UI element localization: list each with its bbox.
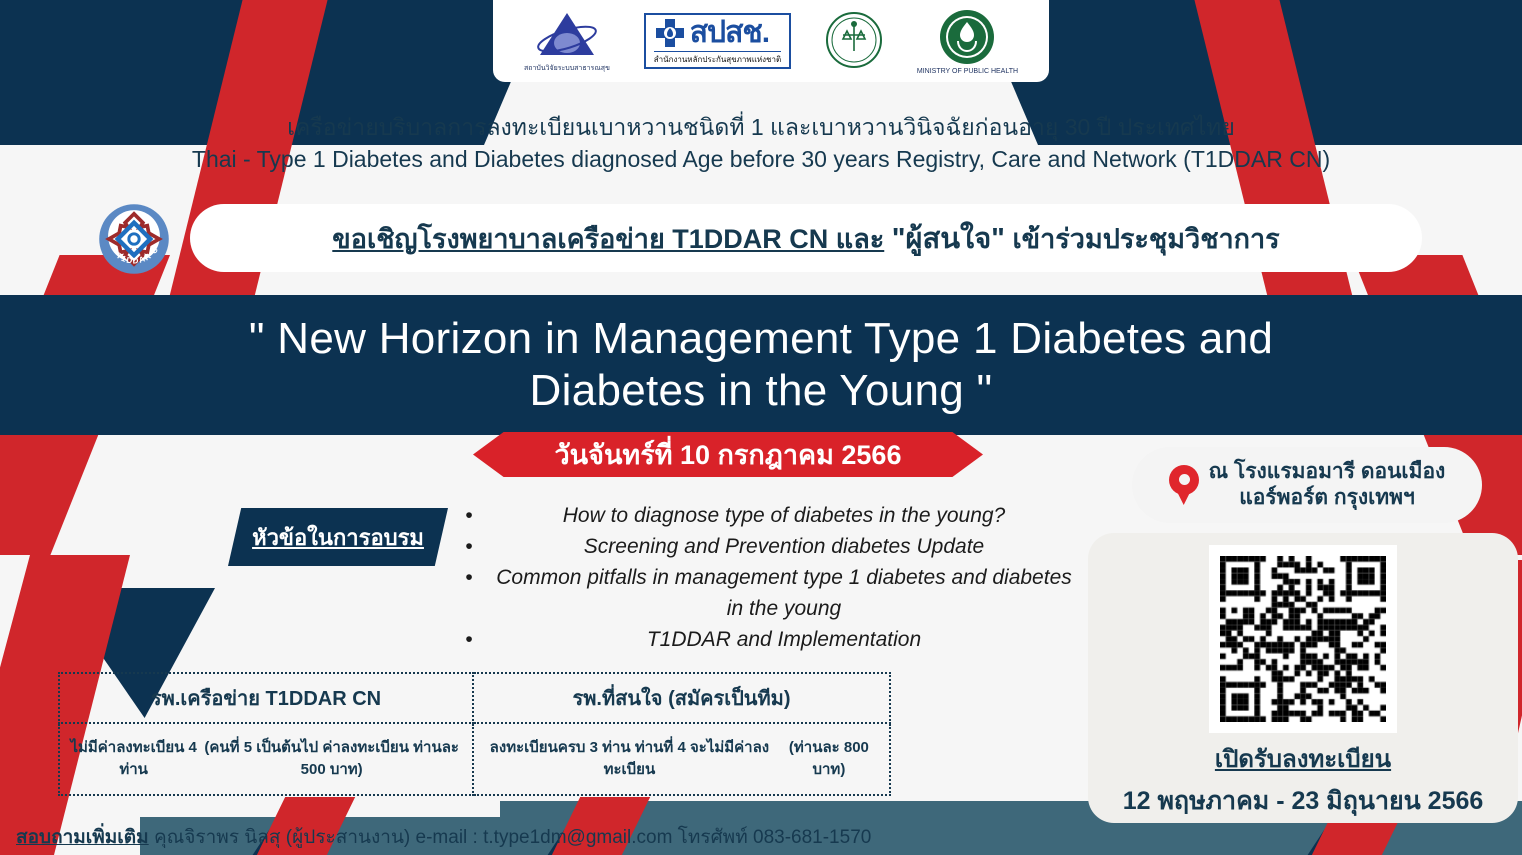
hsri-logo: สถาบันวิจัยระบบสาธารณสุข bbox=[524, 9, 610, 74]
subtitle-thai: เครือข่ายบริบาลการลงทะเบียนเบาหวานชนิดที… bbox=[0, 110, 1522, 146]
event-date-text: วันจันทร์ที่ 10 กรกฎาคม 2566 bbox=[555, 433, 902, 476]
main-title-line-2: Diabetes in the Young " bbox=[530, 365, 993, 417]
event-date-ribbon: วันจันทร์ที่ 10 กรกฎาคม 2566 bbox=[473, 432, 983, 477]
invitation-text-part2: "ผู้สนใจ" bbox=[892, 223, 1005, 255]
bullet-icon: • bbox=[452, 624, 486, 655]
moph-seal-icon bbox=[938, 8, 996, 66]
royal-college-seal-icon bbox=[825, 11, 883, 69]
hsri-logo-caption: สถาบันวิจัยระบบสาธารณสุข bbox=[524, 63, 610, 74]
nhso-logo-caption: สำนักงานหลักประกันสุขภาพแห่งชาติ bbox=[654, 51, 781, 66]
contact-line: สอบถามเพิ่มเติม คุณจิราพร นิลสุ (ผู้ประส… bbox=[16, 822, 871, 852]
topics-label-text: หัวข้อในการอบรม bbox=[252, 520, 424, 555]
moph-logo: MINISTRY OF PUBLIC HEALTH bbox=[917, 8, 1018, 75]
nhso-logo-text: สปสช. bbox=[690, 18, 769, 48]
topic-text: T1DDAR and Implementation bbox=[486, 624, 1082, 655]
medical-cross-icon bbox=[654, 17, 686, 49]
poster-root: สถาบันวิจัยระบบสาธารณสุข สปสช. สำนักงานห… bbox=[0, 0, 1522, 855]
topics-label-tag: หัวข้อในการอบรม bbox=[228, 508, 448, 566]
subtitle-english: Thai - Type 1 Diabetes and Diabetes diag… bbox=[0, 146, 1522, 173]
bullet-icon: • bbox=[452, 531, 486, 562]
registration-open-label: เปิดรับลงทะเบียน bbox=[1215, 739, 1391, 778]
table-cell: ไม่มีค่าลงทะเบียน 4 ท่าน(คนที่ 5 เป็นต้น… bbox=[58, 724, 474, 796]
contact-lead-label: สอบถามเพิ่มเติม bbox=[16, 827, 149, 848]
bullet-icon: • bbox=[452, 500, 486, 531]
registration-date-range: 12 พฤษภาคม - 23 มิถุนายน 2566 bbox=[1123, 781, 1484, 821]
table-cell: ลงทะเบียนครบ 3 ท่าน ท่านที่ 4 จะไม่มีค่า… bbox=[474, 724, 891, 796]
topics-list: • How to diagnose type of diabetes in th… bbox=[452, 500, 1082, 655]
fee-table: รพ.เครือข่าย T1DDAR CN รพ.ที่สนใจ (สมัคร… bbox=[58, 672, 891, 796]
registration-panel: เปิดรับลงทะเบียน 12 พฤษภาคม - 23 มิถุนาย… bbox=[1088, 533, 1518, 823]
topic-text: How to diagnose type of diabetes in the … bbox=[486, 500, 1082, 531]
table-header-cell: รพ.เครือข่าย T1DDAR CN bbox=[58, 672, 474, 724]
map-pin-icon bbox=[1169, 465, 1199, 505]
table-header-row: รพ.เครือข่าย T1DDAR CN รพ.ที่สนใจ (สมัคร… bbox=[58, 672, 891, 724]
topic-text: Screening and Prevention diabetes Update bbox=[486, 531, 1082, 562]
qr-code-image bbox=[1220, 556, 1386, 722]
invitation-text-part3: เข้าร่วมประชุมวิชาการ bbox=[1012, 224, 1279, 254]
contact-details: คุณจิราพร นิลสุ (ผู้ประสานงาน) e-mail : … bbox=[149, 827, 872, 848]
topic-text: Common pitfalls in management type 1 dia… bbox=[486, 562, 1082, 624]
list-item: • T1DDAR and Implementation bbox=[452, 624, 1082, 655]
invitation-pill: ขอเชิญโรงพยาบาลเครือข่าย T1DDAR CN และ "… bbox=[190, 204, 1422, 272]
venue-pill: ณ โรงแรมอมารี ดอนเมือง แอร์พอร์ต กรุงเทพ… bbox=[1132, 447, 1482, 523]
invitation-text-part1: ขอเชิญโรงพยาบาลเครือข่าย T1DDAR CN และ bbox=[332, 224, 884, 254]
qr-code[interactable] bbox=[1209, 545, 1397, 733]
table-header-cell: รพ.ที่สนใจ (สมัครเป็นทีม) bbox=[474, 672, 891, 724]
royal-college-logo bbox=[825, 11, 883, 71]
invitation-row: T1DDAR CN ขอเชิญโรงพยาบาลเครือข่าย T1DDA… bbox=[0, 200, 1522, 278]
list-item: • Screening and Prevention diabetes Upda… bbox=[452, 531, 1082, 562]
main-title-band: " New Horizon in Management Type 1 Diabe… bbox=[0, 295, 1522, 435]
nhso-logo: สปสช. สำนักงานหลักประกันสุขภาพแห่งชาติ bbox=[644, 13, 791, 69]
list-item: • How to diagnose type of diabetes in th… bbox=[452, 500, 1082, 531]
main-title-line-1: " New Horizon in Management Type 1 Diabe… bbox=[249, 313, 1273, 365]
list-item: • Common pitfalls in management type 1 d… bbox=[452, 562, 1082, 624]
partner-logo-bar: สถาบันวิจัยระบบสาธารณสุข สปสช. สำนักงานห… bbox=[493, 0, 1049, 82]
table-row: ไม่มีค่าลงทะเบียน 4 ท่าน(คนที่ 5 เป็นต้น… bbox=[58, 724, 891, 796]
t1ddar-cn-logo-icon: T1DDAR CN bbox=[90, 202, 178, 276]
bullet-icon: • bbox=[452, 562, 486, 593]
hsri-triangle-icon bbox=[534, 9, 600, 61]
moph-logo-caption: MINISTRY OF PUBLIC HEALTH bbox=[917, 68, 1018, 75]
invitation-text: ขอเชิญโรงพยาบาลเครือข่าย T1DDAR CN และ "… bbox=[332, 215, 1279, 261]
venue-line-1: ณ โรงแรมอมารี ดอนเมือง bbox=[1209, 459, 1446, 485]
venue-text: ณ โรงแรมอมารี ดอนเมือง แอร์พอร์ต กรุงเทพ… bbox=[1209, 459, 1446, 512]
venue-line-2: แอร์พอร์ต กรุงเทพฯ bbox=[1209, 485, 1446, 511]
